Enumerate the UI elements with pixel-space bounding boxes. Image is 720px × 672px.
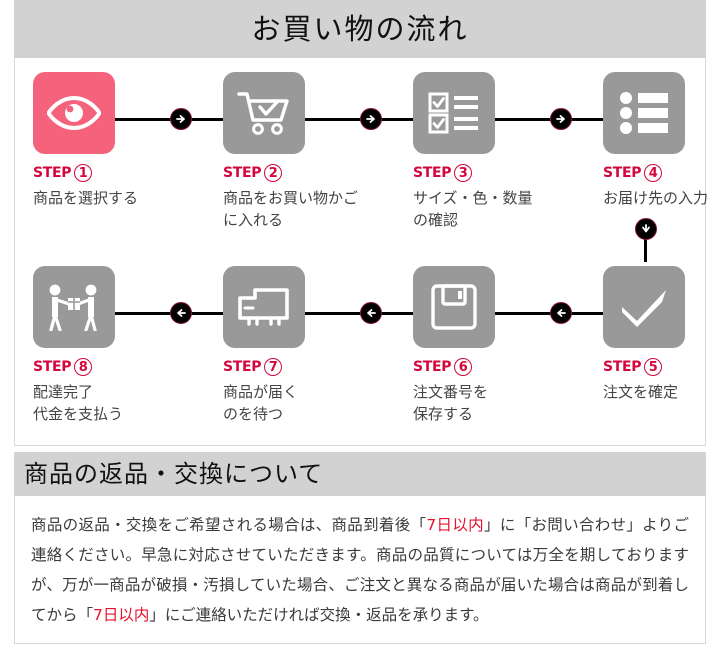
shopping-flow-page: お買い物の流れ STEP1 商品を選択する (0, 0, 720, 672)
checklist-icon (428, 92, 480, 134)
step-5-number: 5 (644, 358, 662, 376)
step-5-word: STEP (603, 359, 641, 375)
step-7-description: 商品が届く のを待つ (223, 381, 383, 425)
step-3-label: STEP3 (413, 164, 573, 183)
delivery-truck-icon (237, 286, 291, 328)
step-8-icon-box (33, 266, 115, 348)
step-4-word: STEP (603, 165, 641, 181)
step-5-label: STEP5 (603, 358, 720, 377)
eye-icon (47, 96, 101, 130)
policy-section-title: 商品の返品・交換について (14, 452, 706, 496)
arrow-right-icon-1 (170, 108, 192, 130)
step-3-word: STEP (413, 165, 451, 181)
flow-step-2: STEP2 商品をお買い物かご に入れる (223, 72, 383, 231)
step-8-number: 8 (74, 358, 92, 376)
step-8-description: 配達完了 代金を支払う (33, 381, 193, 425)
bulleted-list-icon (619, 92, 669, 134)
step-7-icon-box (223, 266, 305, 348)
step-6-description: 注文番号を 保存する (413, 381, 573, 425)
step-2-icon-box (223, 72, 305, 154)
step-3-number: 3 (454, 164, 472, 182)
step-3-description: サイズ・色・数量 の確認 (413, 187, 573, 231)
step-1-label: STEP1 (33, 164, 193, 183)
step-2-label: STEP2 (223, 164, 383, 183)
policy-highlight-1: 7日以内 (426, 516, 484, 534)
policy-text-run-0: 商品の返品・交換をご希望される場合は、商品到着後「 (31, 516, 426, 534)
flow-step-7: STEP7 商品が届く のを待つ (223, 266, 383, 425)
step-8-word: STEP (33, 359, 71, 375)
flow-section-title: お買い物の流れ (14, 0, 706, 58)
flow-step-3: STEP3 サイズ・色・数量 の確認 (413, 72, 573, 231)
step-1-word: STEP (33, 165, 71, 181)
arrow-left-icon-2 (360, 302, 382, 324)
step-4-description: お届け先の入力 (603, 187, 720, 209)
policy-panel: 商品の返品・交換をご希望される場合は、商品到着後「7日以内」に「お問い合わせ」よ… (14, 496, 706, 644)
arrow-right-icon-2 (360, 108, 382, 130)
policy-text-run-4: 」にご連絡いただければ交換・返品を承ります。 (149, 606, 488, 624)
flow-step-4: STEP4 お届け先の入力 (603, 72, 720, 209)
step-6-word: STEP (413, 359, 451, 375)
flow-step-1: STEP1 商品を選択する (33, 72, 193, 209)
flow-step-6: STEP6 注文番号を 保存する (413, 266, 573, 425)
step-4-number: 4 (644, 164, 662, 182)
arrow-left-icon-3 (550, 302, 572, 324)
step-1-description: 商品を選択する (33, 187, 193, 209)
arrow-left-icon-1 (170, 302, 192, 324)
policy-highlight-3: 7日以内 (93, 606, 149, 624)
step-7-number: 7 (264, 358, 282, 376)
step-1-number: 1 (74, 164, 92, 182)
step-5-icon-box (603, 266, 685, 348)
flow-panel: STEP1 商品を選択する STEP2 (14, 58, 706, 446)
step-4-label: STEP4 (603, 164, 720, 183)
step-6-icon-box (413, 266, 495, 348)
step-4-icon-box (603, 72, 685, 154)
step-7-label: STEP7 (223, 358, 383, 377)
step-2-word: STEP (223, 165, 261, 181)
arrow-down-icon-4 (635, 218, 657, 240)
step-6-label: STEP6 (413, 358, 573, 377)
step-8-label: STEP8 (33, 358, 193, 377)
step-7-word: STEP (223, 359, 261, 375)
step-5-description: 注文を確定 (603, 381, 720, 403)
step-3-icon-box (413, 72, 495, 154)
step-2-number: 2 (264, 164, 282, 182)
step-6-number: 6 (454, 358, 472, 376)
handover-package-icon (45, 283, 103, 331)
floppy-disk-save-icon (431, 284, 477, 330)
policy-paragraph: 商品の返品・交換をご希望される場合は、商品到着後「7日以内」に「お問い合わせ」よ… (31, 510, 689, 630)
flow-row-top: STEP1 商品を選択する STEP2 (15, 58, 705, 252)
shopping-cart-icon (237, 90, 291, 136)
arrow-right-icon-3 (550, 108, 572, 130)
flow-row-bottom: STEP8 配達完了 代金を支払う STEP7 (15, 252, 705, 446)
checkmark-icon (618, 286, 670, 328)
step-1-icon-box (33, 72, 115, 154)
flow-step-5: STEP5 注文を確定 (603, 266, 720, 403)
flow-step-8: STEP8 配達完了 代金を支払う (33, 266, 193, 425)
step-2-description: 商品をお買い物かご に入れる (223, 187, 383, 231)
